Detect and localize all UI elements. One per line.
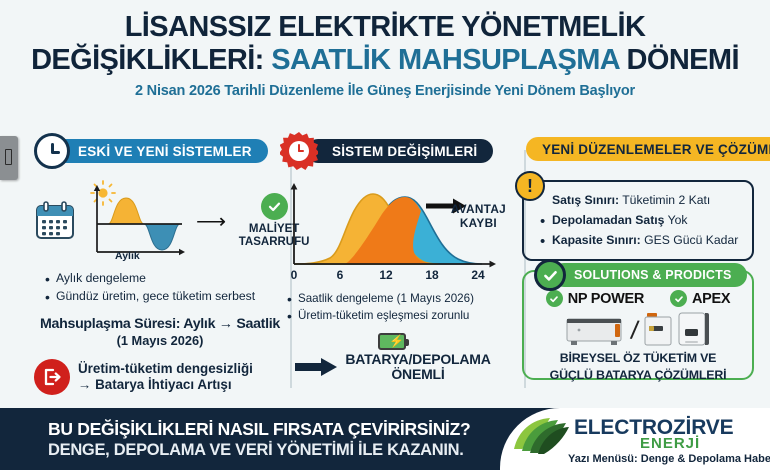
exit-icon <box>34 359 70 395</box>
footer-headline: BU DEĞİŞİKLİKLERİ NASIL FIRSATA ÇEVİRİRS… <box>48 419 470 440</box>
rules-list: Satış Sınırı: Tüketimin 2 Katı Depolamad… <box>540 191 744 250</box>
product-images: / <box>524 311 752 349</box>
page-title-line2-suffix: DÖNEMİ <box>619 44 739 76</box>
monthly-netting-chart: Aylık <box>81 180 189 262</box>
battery-module-image <box>643 312 673 348</box>
battery-callout-line2: ÖNEMLİ <box>345 367 490 382</box>
rule-1-rest: Yok <box>664 213 687 227</box>
check-circle-icon <box>670 290 687 307</box>
logo-tagline: Yazı Menüsü: Denge & Depolama Haberleri <box>568 453 770 465</box>
left-chart-row: Aylık ⟶ MALİYET TASARRUFU <box>34 180 272 262</box>
rule-2-bold: Kapasite Sınırı: <box>552 233 641 247</box>
advantage-loss-line1: AVANTAJ <box>451 202 506 216</box>
svg-text:12: 12 <box>379 268 393 282</box>
column-new-regulations: YENİ DÜZENLEMELER VE ÇÖZÜMLER ! Satış Sı… <box>512 132 770 408</box>
solutions-header: SOLUTIONS & PRODICTS <box>534 259 747 291</box>
rules-box: ! Satış Sınırı: Tüketimin 2 Katı Depolam… <box>522 180 754 261</box>
sun-icon <box>91 181 115 205</box>
brand-name: APEX <box>692 291 730 307</box>
check-circle-icon <box>546 290 563 307</box>
right-section-pill: YENİ DÜZENLEMELER VE ÇÖZÜMLER <box>526 137 770 161</box>
logo-tagline-rest: Denge & Depolama Haberleri <box>638 453 770 465</box>
page-subtitle: 2 Nisan 2026 Tarihli Düzenleme İle Güneş… <box>20 83 750 99</box>
page-title-line2-prefix: DEĞİŞİKLİKLERİ: <box>31 44 271 76</box>
content-columns: ESKİ VE YENİ SİSTEMLER <box>0 132 770 408</box>
advantage-loss-label: AVANTAJ KAYBI <box>451 202 506 230</box>
inverter-image <box>677 311 711 349</box>
battery-callout: BATARYA/DEPOLAMA ÖNEMLİ <box>272 352 512 383</box>
solutions-caption-line2: GÜÇLÜ BATARYA ÇÖZÜMLERİ <box>524 368 752 383</box>
brand-apex: APEX <box>670 290 730 307</box>
advantage-loss-line2: KAYBI <box>451 216 506 230</box>
page-title-line2: DEĞİŞİKLİKLERİ: SAATLİK MAHSUPLAŞMA DÖNE… <box>20 45 750 75</box>
middle-bullet-list: Saatlik dengeleme (1 Mayıs 2026) Üretim-… <box>272 290 512 325</box>
page-title-accent: SAATLİK MAHSUPLAŞMA <box>271 44 619 76</box>
netting-period-date: (1 Mayıs 2026) <box>34 333 286 348</box>
brand-np-power: NP POWER <box>546 290 644 307</box>
battery-callout-text: BATARYA/DEPOLAMA ÖNEMLİ <box>345 352 490 383</box>
svg-text:0: 0 <box>291 268 298 282</box>
brand-name: NP POWER <box>568 291 644 307</box>
logo-tagline-bold: Yazı Menüsü: <box>568 453 638 465</box>
list-item: Kapasite Sınırı: GES Gücü Kadar <box>540 231 744 251</box>
rule-2-rest: GES Gücü Kadar <box>641 233 739 247</box>
imbalance-block: Üretim-tüketim dengesizliği → Batarya İh… <box>34 359 272 395</box>
left-section-header: ESKİ VE YENİ SİSTEMLER <box>34 132 272 170</box>
monthly-chart-xlabel: Aylık <box>115 250 140 262</box>
middle-section-header: SİSTEM DEĞİŞİMLERİ <box>272 132 512 170</box>
page-title-line1: LİSANSSIZ ELEKTRİKTE YÖNETMELİK <box>20 12 750 42</box>
alarm-clock-icon <box>280 132 318 170</box>
product-separator: / <box>629 314 640 346</box>
left-bullet-list: Aylık dengeleme Gündüz üretim, gece tüke… <box>34 270 272 305</box>
rule-0-bold: Satış Sınırı: <box>552 193 619 207</box>
svg-text:24: 24 <box>471 268 485 282</box>
logo-subword: ENERJİ <box>640 435 700 452</box>
column-system-changes: SİSTEM DEĞİŞİMLERİ 0 6 12 <box>272 132 512 408</box>
middle-section-pill: SİSTEM DEĞİŞİMLERİ <box>306 139 493 163</box>
rule-1-bold: Depolamadan Satış <box>552 213 664 227</box>
right-section-header: YENİ DÜZENLEMELER VE ÇÖZÜMLER <box>512 132 770 166</box>
hourly-netting-chart: 0 6 12 18 24 AVANTAJ KAYBI <box>278 178 508 284</box>
left-section-pill: ESKİ VE YENİ SİSTEMLER <box>52 139 268 163</box>
clock-icon <box>34 133 70 169</box>
list-item: Aylık dengeleme <box>56 270 272 288</box>
imbalance-line1: Üretim-tüketim dengesizliği <box>78 361 253 377</box>
netting-period-headline: Mahsuplaşma Süresi: Aylık → Saatlik <box>34 316 286 332</box>
list-item: Saatlik dengeleme (1 Mayıs 2026) <box>298 290 512 307</box>
list-item: Üretim-tüketim eşleşmesi zorunlu <box>298 307 512 324</box>
list-item: Gündüz üretim, gece tüketim serbest <box>56 288 272 306</box>
calendar-icon <box>34 200 76 242</box>
column-old-new-systems: ESKİ VE YENİ SİSTEMLER <box>0 132 272 408</box>
battery-callout-line1: BATARYA/DEPOLAMA <box>345 352 490 367</box>
brand-row: NP POWER APEX <box>524 290 752 307</box>
footer-banner: BU DEĞİŞİKLİKLERİ NASIL FIRSATA ÇEVİRİRS… <box>0 408 770 470</box>
solutions-box: SOLUTIONS & PRODICTS NP POWER APEX <box>522 270 754 380</box>
imbalance-text: Üretim-tüketim dengesizliği → Batarya İh… <box>78 361 253 393</box>
battery-charging-icon: ⚡ <box>378 333 406 350</box>
company-logo[interactable]: ELECTROZİRVE ENERJİ Yazı Menüsü: Denge &… <box>506 413 764 467</box>
list-item: Depolamadan Satış Yok <box>540 211 744 231</box>
footer-subline: DENGE, DEPOLAMA VE VERİ YÖNETİMİ İLE KAZ… <box>48 441 464 460</box>
right-arrow-icon <box>293 357 339 377</box>
svg-text:18: 18 <box>425 268 439 282</box>
leaf-logo-icon <box>510 415 570 455</box>
header: LİSANSSIZ ELEKTRİKTE YÖNETMELİK DEĞİŞİKL… <box>0 0 770 99</box>
arrow-to-savings-icon: ⟶ <box>196 211 226 232</box>
svg-text:6: 6 <box>337 268 344 282</box>
rule-0-rest: Tüketimin 2 Katı <box>619 193 710 207</box>
solutions-caption-line1: BİREYSEL ÖZ TÜKETİM VE <box>524 351 752 366</box>
list-item: Satış Sınırı: Tüketimin 2 Katı <box>540 191 744 211</box>
imbalance-line2: → Batarya İhtiyacı Artışı <box>78 377 253 393</box>
solutions-pill: SOLUTIONS & PRODICTS <box>552 263 747 287</box>
battery-cabinet-image <box>565 313 627 347</box>
